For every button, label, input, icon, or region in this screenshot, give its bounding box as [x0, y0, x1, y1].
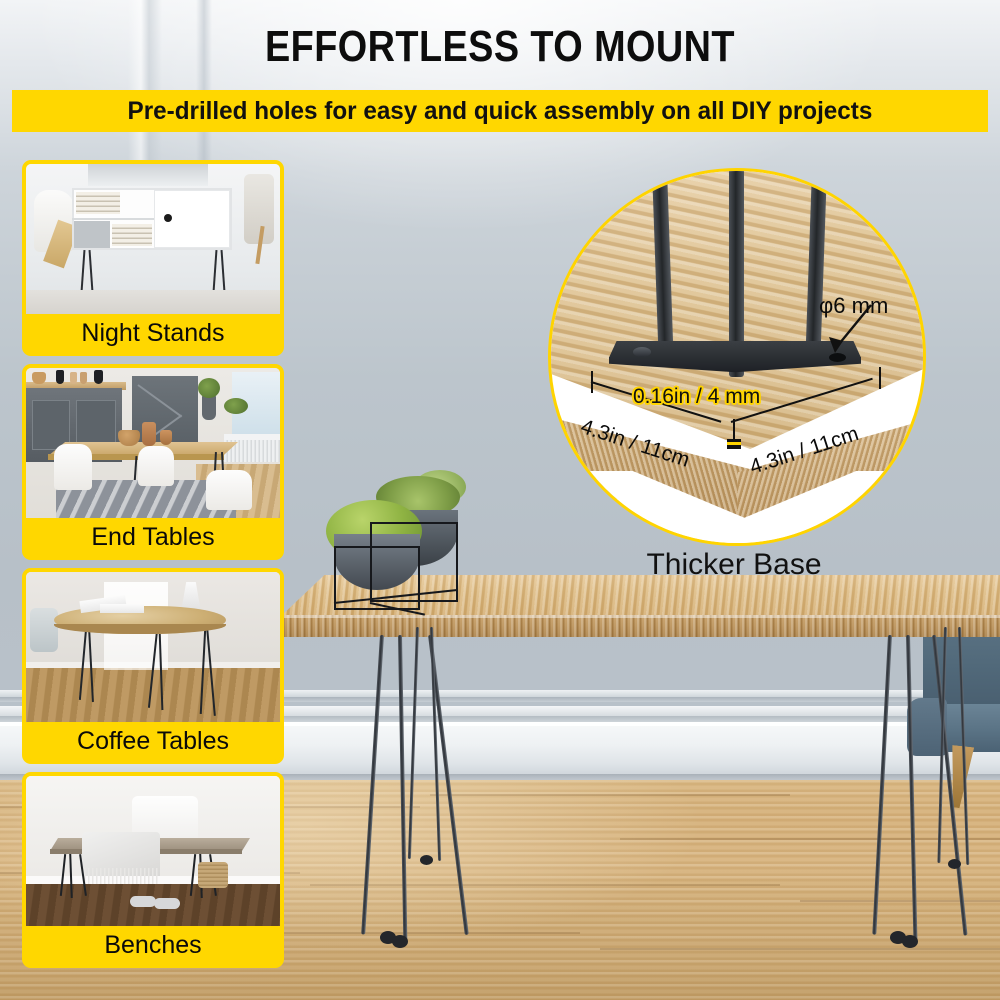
product-marketing-image: EFFORTLESS TO MOUNT Pre-drilled holes fo…	[0, 0, 1000, 1000]
screw-head	[633, 347, 651, 357]
use-case-card-night-stands[interactable]: Night Stands	[22, 160, 284, 356]
use-case-label: End Tables	[26, 518, 280, 556]
live-edge-table-photo	[26, 572, 280, 722]
hole-diameter-label: φ6 mm	[819, 293, 888, 319]
subtitle-banner: Pre-drilled holes for easy and quick ass…	[12, 90, 988, 132]
use-case-label: Benches	[26, 926, 280, 964]
use-case-label: Night Stands	[26, 314, 280, 352]
subtitle-text: Pre-drilled holes for easy and quick ass…	[128, 97, 873, 126]
callout-caption: Thicker Base	[548, 548, 920, 582]
hairpin-leg-table	[280, 575, 1000, 995]
dimension-tick-left	[591, 371, 593, 393]
plate-thickness-label: 0.16in / 4 mm	[633, 385, 760, 409]
use-case-label: Coffee Tables	[26, 722, 280, 760]
use-case-card-end-tables[interactable]: End Tables	[22, 364, 284, 560]
thickness-marker-highlight	[727, 442, 741, 445]
table-edge-grain	[280, 615, 1000, 637]
planter-decor	[318, 462, 468, 612]
dimension-tick-right	[879, 367, 881, 389]
use-case-card-coffee-tables[interactable]: Coffee Tables	[22, 568, 284, 764]
dining-table-photo	[26, 368, 280, 518]
page-title: EFFORTLESS TO MOUNT	[70, 22, 930, 72]
table-edge-highlight	[280, 615, 1000, 618]
bench-photo	[26, 776, 280, 926]
night-stand-photo	[26, 164, 280, 314]
detail-callout-circle: φ6 mm 0.16in / 4 mm 4.3in / 11cm 4.3in /…	[548, 168, 926, 546]
use-case-card-benches[interactable]: Benches	[22, 772, 284, 968]
use-case-card-list: Night Stands	[22, 160, 284, 976]
